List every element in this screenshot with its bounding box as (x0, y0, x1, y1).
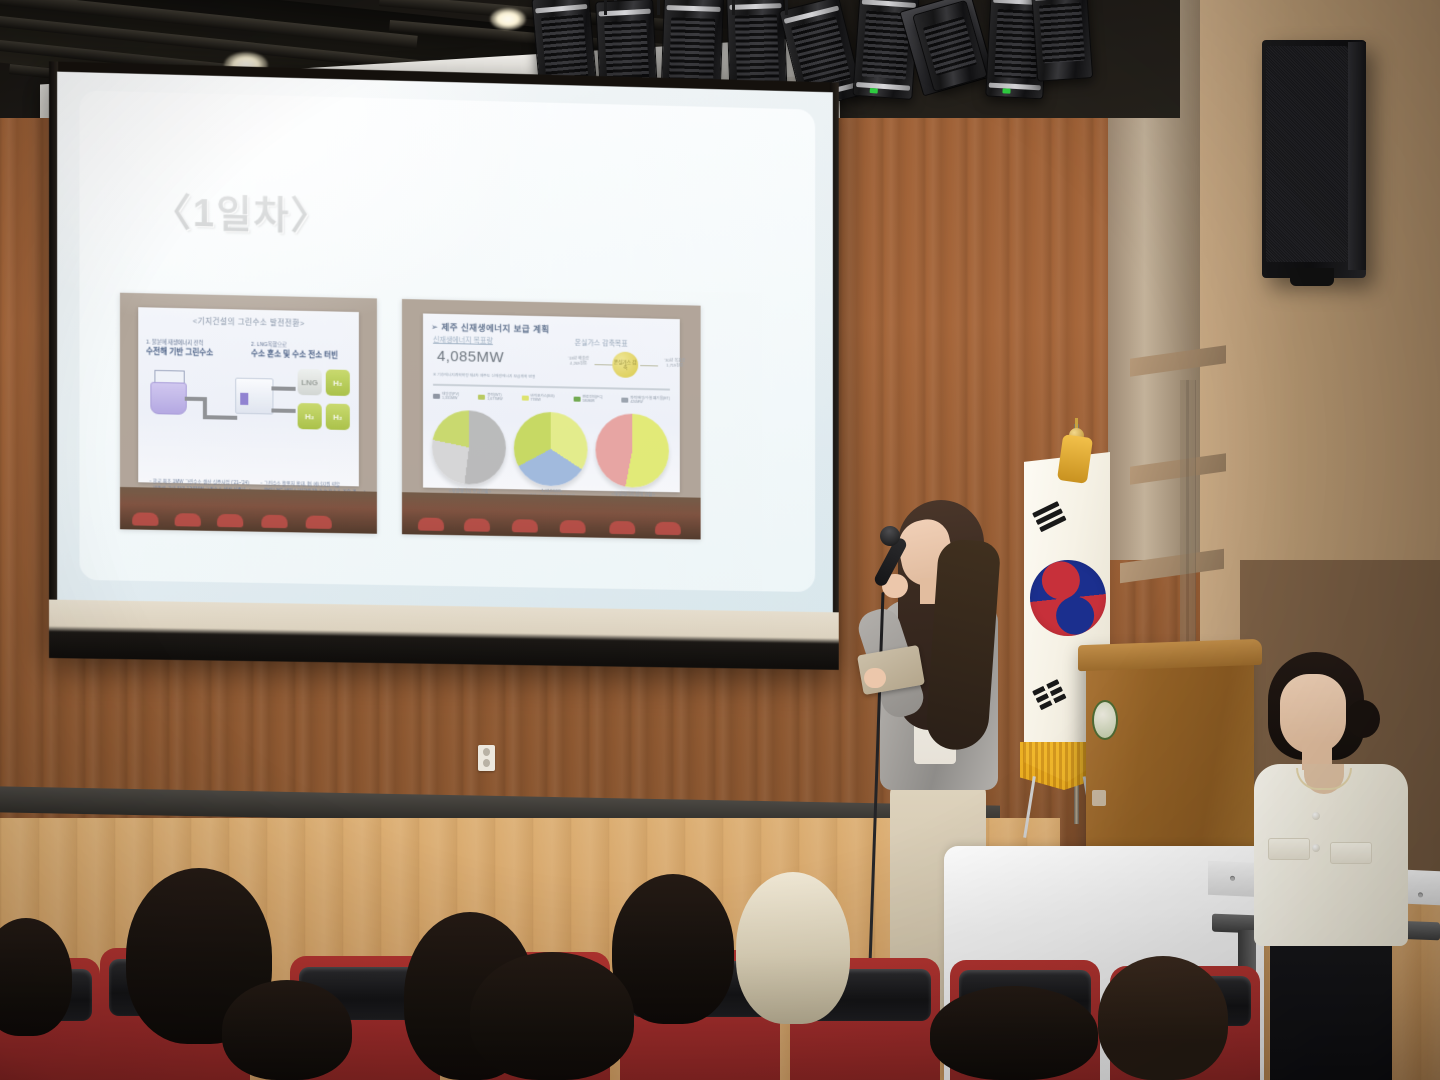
assistant-button-top (1312, 812, 1320, 820)
right-chart-card: ➢ 제주 신재생에너지 보급 계획 신재생에너지 목표량 4,085MW 온실가… (423, 314, 680, 493)
strip-seat (464, 518, 490, 531)
audience-head (930, 986, 1098, 1080)
ghg-arrow-right (640, 365, 658, 366)
presentation-slide: 〈1일차〉 <기지건설의 그린수소 발전전환> 1. 물분해 재생에너지 전력 … (79, 90, 815, 592)
lectern-plaque (1092, 790, 1106, 806)
ghg-arrow-left (595, 364, 613, 365)
strip-seat (418, 517, 444, 530)
ghg-left-figure: '18년 배출량 4,269천톤 (563, 356, 595, 367)
fixture-vent (1039, 2, 1084, 64)
tank-lng: LNG (297, 369, 321, 396)
right-source-note: ※ 기후에너지계획확정 제4차 제주도 신재생에너지 보급계획 반영 (433, 372, 535, 380)
screen-bottom-bar (49, 600, 839, 670)
stage-light-9 (1031, 0, 1093, 82)
ghg-label: 온실가스 감축목표 (575, 338, 628, 349)
legend-value-5: 420MW (630, 400, 642, 404)
pipe-5 (271, 409, 295, 413)
wall-vent-grill (1180, 380, 1196, 680)
audience-head (1098, 956, 1228, 1080)
table-screw (1230, 876, 1235, 881)
pie-chart-group: <재생에너지 보급현황> 1,012GWh <재생에너지 발전설비 현황> <재… (429, 410, 674, 489)
left-diagram-body: 1. 물분해 재생에너지 전력 수전해 기반 그린수소 2. LNG복합으로 수… (138, 325, 359, 504)
screen-surface: 〈1일차〉 <기지건설의 그린수소 발전전환> 1. 물분해 재생에너지 전력 … (57, 72, 833, 613)
legend-value-1: 1,331MW (442, 396, 457, 400)
pie-chart-3 (596, 413, 669, 488)
strip-seat (609, 521, 635, 534)
pie-chart-1 (432, 410, 506, 485)
pie-legend: 태양광(PV)1,331MW 풍력(WT)1,677MW 바이오가스(BG)77… (433, 392, 670, 405)
fixture-rail (862, 0, 916, 8)
left-step2-num: 2. LNG복합으로 (251, 342, 287, 349)
strip-seat (132, 512, 158, 526)
ghg-left-val: 4,269천톤 (570, 361, 587, 366)
audience-head (470, 952, 634, 1080)
fixture-led (1002, 88, 1010, 93)
fixture-rail-b (856, 82, 910, 91)
left-photo-strip (120, 487, 377, 534)
tank-h2-c: H₂ (326, 404, 350, 431)
legend-swatch (433, 394, 440, 399)
legend-swatch (573, 396, 580, 401)
slide-title: 〈1일차〉 (152, 181, 330, 241)
left-step1-label: 1. 물분해 재생에너지 전력 수전해 기반 그린수소 (146, 340, 213, 359)
fixture-rail (1035, 0, 1085, 1)
fixture-led (870, 88, 878, 94)
legend-item-4: 연료전지(FC)580MW (573, 395, 602, 404)
slide-image-right: ➢ 제주 신재생에너지 보급 계획 신재생에너지 목표량 4,085MW 온실가… (402, 299, 701, 539)
left-footnotes: ・한국 최초 1MW 그린수소 생산 실증사업 ('21~'24) ・제주에 국… (146, 478, 351, 482)
left-step1-title: 수전해 기반 그린수소 (146, 347, 213, 359)
strip-seat (655, 522, 681, 535)
assistant-hair-bun (1346, 700, 1380, 738)
tank-h2-b: H₂ (297, 403, 321, 430)
power-plant-icon (235, 378, 273, 415)
electrolyzer-tank (150, 382, 186, 415)
projector-screen: 〈1일차〉 <기지건설의 그린수소 발전전환> 1. 물분해 재생에너지 전력 … (49, 61, 839, 670)
fixture-rail (535, 4, 587, 13)
ghg-right-val: 1,719천톤 (666, 363, 683, 368)
stage-light-yoke-2 (732, 0, 788, 15)
ceiling-downlight-2 (490, 8, 526, 30)
slide-image-left: <기지건설의 그린수소 발전전환> 1. 물분해 재생에너지 전력 수전해 기반… (120, 293, 377, 534)
assistant-face (1280, 674, 1346, 754)
fixture-rail (667, 5, 721, 12)
assistant-button-bottom (1312, 844, 1320, 852)
right-separator (433, 384, 670, 391)
strip-seat (217, 514, 243, 528)
lectern-emblem (1092, 700, 1118, 740)
ghg-badge: 온실가스 감축 (612, 352, 638, 378)
legend-value-2: 1,677MW (487, 397, 502, 401)
wall-outlet (478, 745, 495, 771)
presenter-hand-clipboard (864, 668, 886, 688)
legend-item-1: 태양광(PV)1,331MW (433, 392, 459, 401)
outlet-socket-bottom (483, 759, 490, 767)
legend-swatch (521, 395, 528, 400)
legend-swatch (478, 395, 485, 400)
stage-light-yoke-1 (604, 0, 660, 15)
assistant-pocket-right (1330, 842, 1372, 864)
pie-chart-2 (514, 411, 588, 486)
strip-seat (261, 515, 287, 529)
auditorium-scene: 〈1일차〉 <기지건설의 그린수소 발전전환> 1. 물분해 재생에너지 전력 … (0, 0, 1440, 1080)
speaker-side (1348, 42, 1366, 270)
legend-item-5: 파력/해양/수열 폐기물(ET)420MW (622, 396, 670, 406)
right-photo-strip (402, 492, 701, 540)
plant-panel (240, 393, 248, 405)
table-screw (1418, 892, 1423, 897)
pipe-3 (203, 415, 237, 420)
fixture-vent (791, 16, 851, 89)
tank-h2-a: H₂ (326, 370, 350, 397)
ghg-right-figure: '30년 목표량 1,719천톤 (658, 358, 692, 369)
left-step2-label: 2. LNG복합으로 수소 혼소 및 수소 전소 터빈 (251, 342, 338, 361)
fixture-rail-b (989, 82, 1041, 90)
audience-head-blonde (736, 872, 850, 1024)
legend-item-2: 풍력(WT)1,677MW (478, 393, 502, 402)
legend-value-3: 77MW (530, 398, 540, 402)
assistant-pocket-left (1268, 838, 1310, 860)
outlet-socket-top (483, 748, 490, 756)
strip-seat (175, 513, 201, 527)
kpi-value: 4,085MW (437, 348, 504, 366)
audience-head (222, 980, 352, 1080)
strip-seat (560, 520, 586, 533)
strip-seat (306, 515, 332, 528)
wall-speaker (1262, 40, 1366, 278)
legend-value-4: 580MW (582, 399, 594, 403)
left-step2-title: 수소 혼소 및 수소 전소 터빈 (251, 349, 338, 361)
legend-swatch (622, 397, 629, 402)
finial-tip (1075, 418, 1078, 428)
speaker-mount-bracket (1290, 268, 1334, 286)
pipe-4 (271, 386, 295, 391)
fixture-vent (923, 16, 976, 75)
speaker-grill (1266, 46, 1348, 262)
kpi-label: 신재생에너지 목표량 (433, 335, 493, 346)
strip-seat (512, 519, 538, 532)
fixture-vent (735, 14, 780, 86)
left-diagram-card: <기지건설의 그린수소 발전전환> 1. 물분해 재생에너지 전력 수전해 기반… (138, 307, 359, 486)
flag-gold-tassel-top (1057, 434, 1093, 484)
flag-stand-leg-left (1023, 776, 1036, 838)
legend-item-3: 바이오가스(BG)77MW (521, 394, 554, 403)
